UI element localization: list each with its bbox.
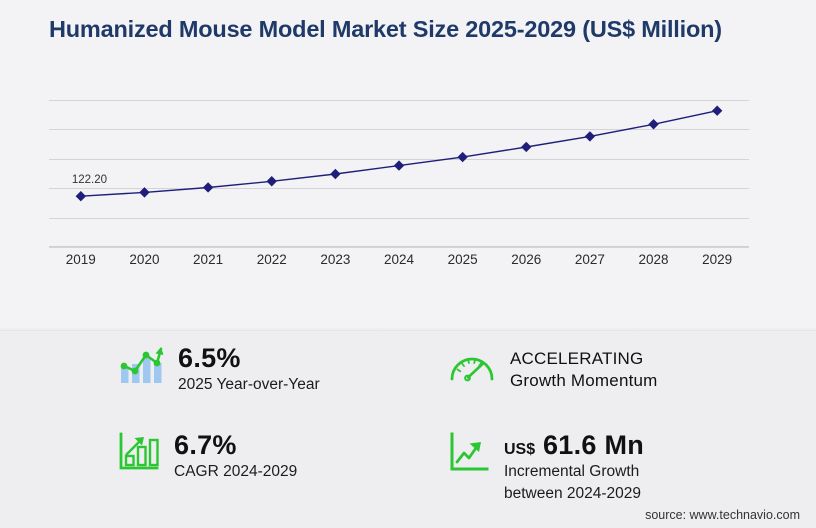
data-point-marker [267, 176, 277, 186]
data-point-marker [139, 187, 149, 197]
stat-value: 6.5% [178, 344, 320, 373]
x-tick-label: 2025 [428, 252, 498, 267]
x-tick-label: 2026 [491, 252, 561, 267]
stats-panel: 6.5% 2025 Year-over-Year 6.7% CAGR 2024-… [0, 336, 816, 511]
stat-year-over-year: 6.5% 2025 Year-over-Year [118, 344, 320, 395]
data-point-marker [76, 191, 86, 201]
gridline [49, 247, 749, 248]
infographic-page: Humanized Mouse Model Market Size 2025-2… [0, 0, 816, 528]
stat-label-line-1: Incremental Growth [504, 462, 644, 482]
x-tick-label: 2024 [364, 252, 434, 267]
stat-amount: 61.6 Mn [543, 430, 644, 460]
stat-growth-momentum: ACCELERATING Growth Momentum [448, 348, 658, 393]
stat-label: CAGR 2024-2029 [174, 462, 297, 482]
momentum-line-2: Growth Momentum [510, 370, 658, 392]
speedometer-icon [448, 348, 496, 389]
data-point-marker [712, 105, 722, 115]
section-divider [0, 330, 816, 331]
stat-label: 2025 Year-over-Year [178, 375, 320, 395]
stat-cagr: 6.7% CAGR 2024-2029 [118, 431, 297, 482]
data-point-marker [648, 119, 658, 129]
data-point-marker [203, 182, 213, 192]
x-tick-label: 2029 [682, 252, 752, 267]
stat-value: 6.7% [174, 431, 297, 460]
chart-x-tick-labels: 2019202020212022202320242025202620272028… [49, 252, 749, 276]
chart-series-area [49, 100, 749, 247]
x-tick-label: 2022 [237, 252, 307, 267]
data-point-marker [521, 142, 531, 152]
data-point-marker [394, 160, 404, 170]
stat-value: US$ 61.6 Mn [504, 431, 644, 460]
stat-label-line-2: between 2024-2029 [504, 484, 644, 504]
data-point-marker [330, 169, 340, 179]
stat-currency-unit: US$ [504, 441, 535, 458]
x-tick-label: 2021 [173, 252, 243, 267]
x-tick-label: 2020 [109, 252, 179, 267]
x-tick-label: 2027 [555, 252, 625, 267]
x-tick-label: 2019 [46, 252, 116, 267]
stat-incremental-growth: US$ 61.6 Mn Incremental Growth between 2… [448, 431, 644, 504]
momentum-line-1: ACCELERATING [510, 348, 658, 370]
data-point-marker [585, 131, 595, 141]
line-chart: 122.20 201920202021202220232024202520262… [49, 100, 749, 275]
series-line [81, 111, 717, 197]
x-tick-label: 2028 [619, 252, 689, 267]
bar-line-growth-icon [118, 344, 164, 391]
source-attribution: source: www.technavio.com [645, 508, 800, 522]
data-point-label: 122.20 [72, 174, 107, 186]
x-tick-label: 2023 [300, 252, 370, 267]
page-title: Humanized Mouse Model Market Size 2025-2… [49, 14, 739, 45]
data-point-marker [457, 152, 467, 162]
cagr-bar-chart-icon [118, 431, 160, 478]
incremental-growth-icon [448, 431, 490, 480]
